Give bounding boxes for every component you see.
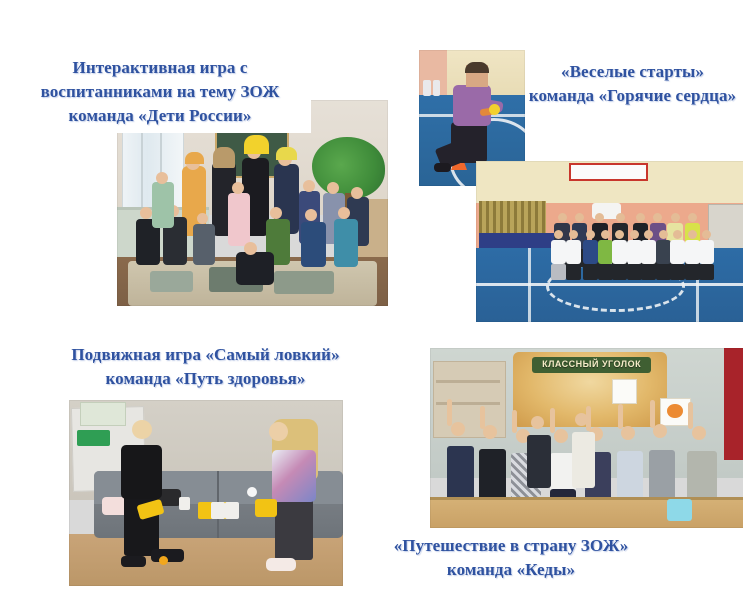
photo-scene xyxy=(476,161,743,322)
photo-classroom-hands-up: КЛАССНЫЙ УГОЛОК xyxy=(430,348,743,528)
caption-puteshestvie-v-stranu-zozh-kedy: «Путешествие в страну ЗОЖ» команда «Кеды… xyxy=(370,534,652,582)
caption-interactive-game-deti-rossii: Интерактивная игра с воспитанниками на т… xyxy=(0,56,320,128)
caption-veselye-starty-goryachie-serdca: «Веселые старты» команда «Горячие сердца… xyxy=(520,60,743,108)
photo-kids-cup-game: Мальчик и девочка играют в игру с мячико… xyxy=(69,400,343,586)
photo-scene xyxy=(69,400,343,586)
caption-podvizhnaya-igra-put-zdorovya: Подвижная игра «Самый ловкий» команда «П… xyxy=(48,343,363,391)
photo-scene: КЛАССНЫЙ УГОЛОК xyxy=(430,348,743,528)
classroom-board-title: КЛАССНЫЙ УГОЛОК xyxy=(536,359,648,369)
presentation-slide: Групповое фото воспитанников детского са… xyxy=(0,0,743,615)
photo-school-team-gym: Большая группа школьников в белых футбол… xyxy=(476,161,743,322)
